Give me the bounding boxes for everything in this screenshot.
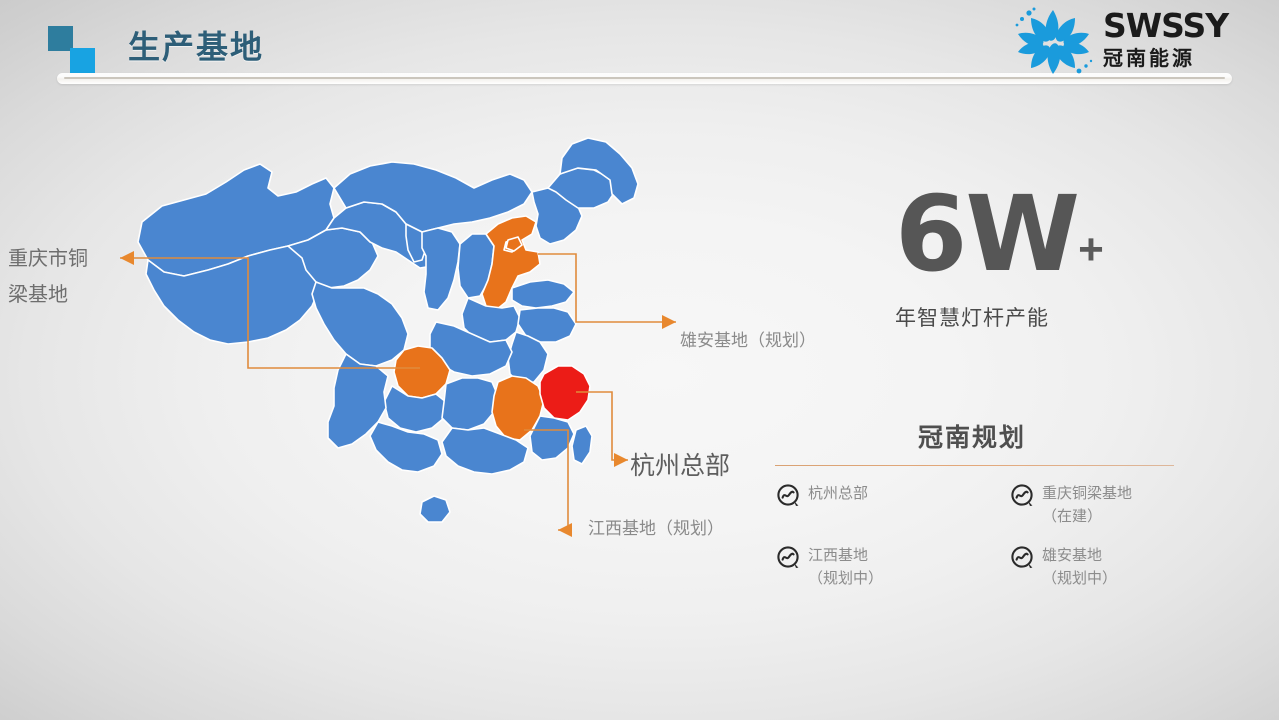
- header-decoration: [48, 26, 112, 74]
- wave-circle-icon: [1010, 483, 1036, 509]
- brand-text: SWSSY 冠南能源: [1103, 8, 1265, 72]
- plan-item-label: 重庆铜梁基地 （在建）: [1042, 482, 1132, 528]
- map-label-hangzhou: 杭州总部: [630, 446, 730, 482]
- capacity-stat: 6W+ 年智慧灯杆产能: [895, 182, 1225, 332]
- plan-item-chongqing[interactable]: 重庆铜梁基地 （在建）: [976, 482, 1182, 528]
- province-hunan: [442, 378, 498, 430]
- slide-root: 生产基地: [0, 0, 1279, 720]
- plan-item-label: 雄安基地 （规划中）: [1042, 544, 1117, 590]
- swssy-flower-logo-icon: [1007, 6, 1099, 78]
- map-label-xiongan: 雄安基地（规划）: [680, 326, 816, 351]
- china-map: [120, 130, 700, 560]
- province-sichuan: [312, 282, 408, 366]
- brand-name-cn: 冠南能源: [1103, 44, 1265, 72]
- page-title: 生产基地: [128, 25, 264, 69]
- stat-plus-sign: +: [1078, 225, 1104, 274]
- plan-panel: 冠南规划 杭州总部: [762, 418, 1182, 590]
- brand-name-en: SWSSY: [1103, 8, 1265, 44]
- map-label-chongqing: 重庆市铜 梁基地: [8, 240, 88, 312]
- plan-item-xiongan[interactable]: 雄安基地 （规划中）: [976, 544, 1182, 590]
- plan-item-hangzhou[interactable]: 杭州总部: [762, 482, 968, 528]
- province-hainan: [420, 496, 450, 522]
- plan-item-label: 江西基地 （规划中）: [808, 544, 883, 590]
- province-zhejiang-highlight: [540, 366, 590, 420]
- plan-items-grid: 杭州总部 重庆铜梁基地 （在建）: [762, 482, 1182, 590]
- province-shaanxi: [422, 228, 460, 310]
- wave-circle-icon: [776, 483, 802, 509]
- brand-logo: SWSSY 冠南能源: [1007, 6, 1267, 78]
- province-shandong: [512, 280, 574, 308]
- province-taiwan: [572, 426, 592, 464]
- stat-caption: 年智慧灯杆产能: [895, 302, 1225, 332]
- plan-item-label: 杭州总部: [808, 482, 868, 505]
- plan-title: 冠南规划: [762, 418, 1182, 454]
- decor-square-light: [70, 48, 95, 73]
- wave-circle-icon: [776, 545, 802, 571]
- plan-divider: [775, 465, 1174, 466]
- wave-circle-icon: [1010, 545, 1036, 571]
- map-label-jiangxi: 江西基地（规划）: [588, 514, 724, 539]
- stat-number: 6W: [895, 173, 1078, 295]
- stat-number-row: 6W+: [895, 182, 1225, 286]
- plan-item-jiangxi[interactable]: 江西基地 （规划中）: [762, 544, 968, 590]
